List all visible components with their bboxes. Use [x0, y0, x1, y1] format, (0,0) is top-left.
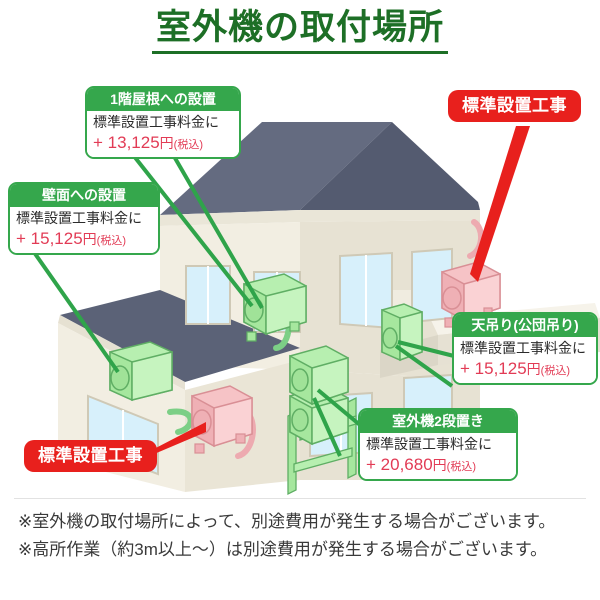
- price-tax-note: (税込): [447, 461, 476, 473]
- price-amount: 15,125: [31, 229, 83, 248]
- price-prefix: +: [366, 455, 376, 474]
- callout-wall-mount-line1: 標準設置工事料金に: [16, 210, 152, 227]
- callout-wall-mount-header: 壁面への設置: [10, 184, 158, 207]
- price-tax-note: (税込): [97, 235, 126, 247]
- price-amount: 15,125: [475, 359, 527, 378]
- leader-badge-top-right: [470, 126, 530, 282]
- footer-note-2: ※高所作業（約3m以上〜）は別途費用が発生する場合がございます。: [18, 536, 588, 564]
- price-amount: 13,125: [108, 133, 160, 152]
- callout-roof-1f-body: 標準設置工事料金に + 13,125円(税込): [87, 111, 239, 157]
- page-title: 室外機の取付場所: [152, 8, 448, 54]
- callout-ceiling-hang[interactable]: 天吊り(公団吊り) 標準設置工事料金に + 15,125円(税込): [452, 312, 598, 385]
- callout-roof-1f[interactable]: 1階屋根への設置 標準設置工事料金に + 13,125円(税込): [85, 86, 241, 159]
- callout-ceiling-hang-line1: 標準設置工事料金に: [460, 340, 590, 357]
- footer-notes: ※室外機の取付場所によって、別途費用が発生する場合がございます。 ※高所作業（約…: [18, 508, 588, 563]
- page-title-wrap: 室外機の取付場所: [0, 8, 600, 54]
- callout-roof-1f-header: 1階屋根への設置: [87, 88, 239, 111]
- price-currency: 円: [527, 361, 541, 377]
- infographic-canvas: 室外機の取付場所: [0, 0, 600, 600]
- price-currency: 円: [83, 231, 97, 247]
- footer-note-1: ※室外機の取付場所によって、別途費用が発生する場合がございます。: [18, 508, 588, 536]
- price-tax-note: (税込): [174, 139, 203, 151]
- callout-ceiling-hang-header: 天吊り(公団吊り): [454, 314, 596, 337]
- badge-standard-install-bottom-left[interactable]: 標準設置工事: [24, 440, 157, 472]
- callout-roof-1f-price: + 13,125円(税込): [93, 132, 233, 153]
- callout-wall-mount[interactable]: 壁面への設置 標準設置工事料金に + 15,125円(税込): [8, 182, 160, 255]
- callout-two-stage[interactable]: 室外機2段置き 標準設置工事料金に + 20,680円(税込): [358, 408, 518, 481]
- callout-two-stage-body: 標準設置工事料金に + 20,680円(税込): [360, 433, 516, 479]
- price-tax-note: (税込): [541, 365, 570, 377]
- callout-wall-mount-price: + 15,125円(税込): [16, 228, 152, 249]
- callout-two-stage-price: + 20,680円(税込): [366, 454, 510, 475]
- price-prefix: +: [16, 229, 26, 248]
- price-prefix: +: [460, 359, 470, 378]
- price-currency: 円: [433, 457, 447, 473]
- callout-ceiling-hang-body: 標準設置工事料金に + 15,125円(税込): [454, 337, 596, 383]
- price-amount: 20,680: [381, 455, 433, 474]
- callout-wall-mount-body: 標準設置工事料金に + 15,125円(税込): [10, 207, 158, 253]
- price-prefix: +: [93, 133, 103, 152]
- callout-ceiling-hang-price: + 15,125円(税込): [460, 358, 590, 379]
- callout-roof-1f-line1: 標準設置工事料金に: [93, 114, 233, 131]
- badge-standard-install-top-right[interactable]: 標準設置工事: [448, 90, 581, 122]
- callout-two-stage-header: 室外機2段置き: [360, 410, 516, 433]
- footer-divider: [14, 498, 586, 499]
- price-currency: 円: [160, 135, 174, 151]
- callout-two-stage-line1: 標準設置工事料金に: [366, 436, 510, 453]
